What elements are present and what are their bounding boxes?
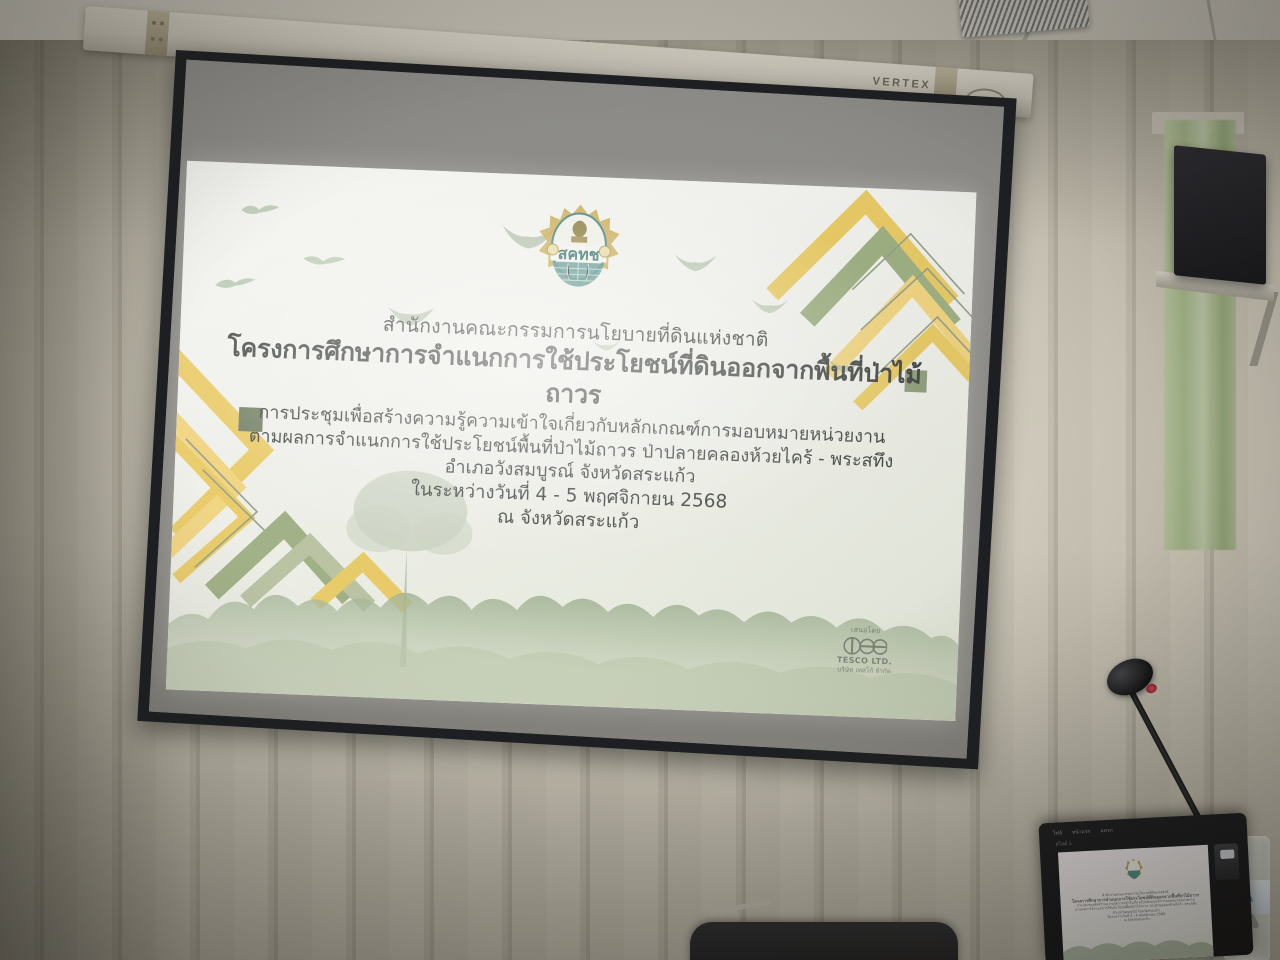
conference-room-scene: VERTEX (0, 0, 1280, 960)
scene-vignette (0, 0, 1280, 960)
